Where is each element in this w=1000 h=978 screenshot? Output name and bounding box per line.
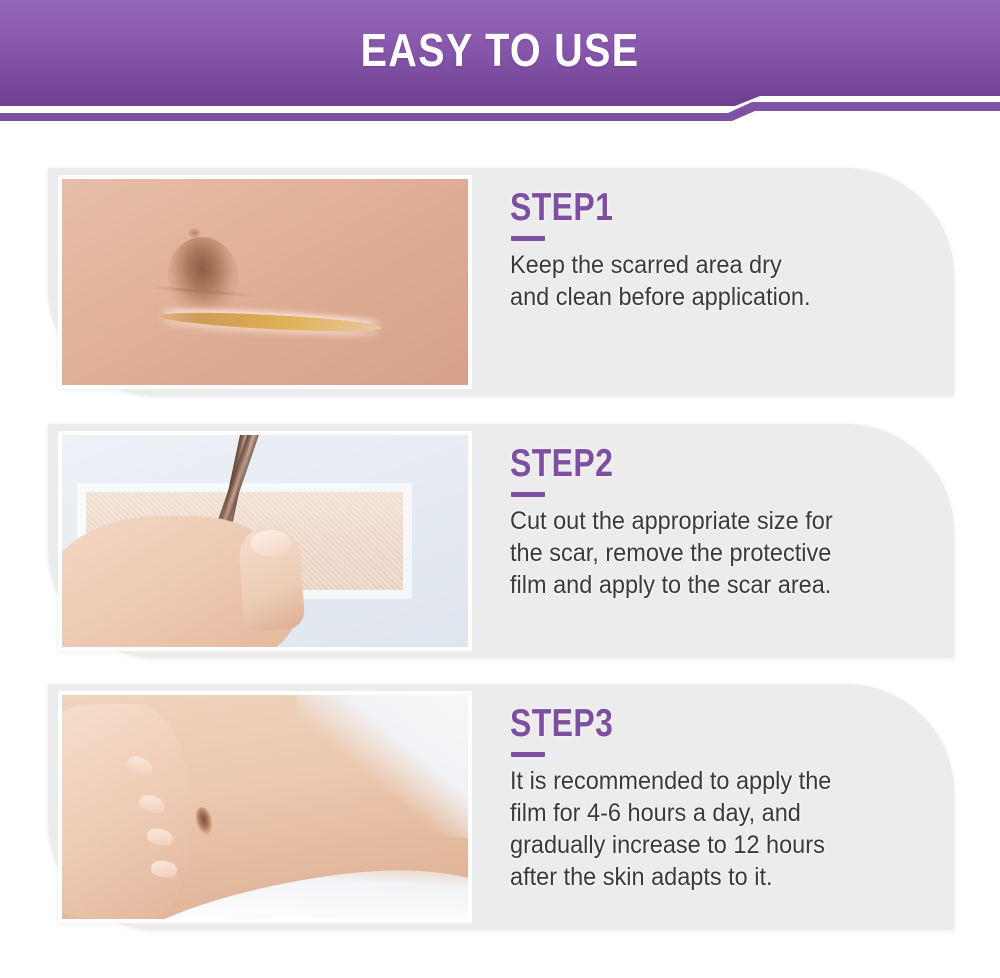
step-1-photo-frame <box>58 175 472 389</box>
step-1-description: Keep the scarred area dry and clean befo… <box>510 249 894 313</box>
step-2-title: STEP2 <box>510 444 845 483</box>
abdomen-with-hand-image <box>62 695 468 919</box>
step-2-line-1: Cut out the appropriate size for <box>510 505 894 537</box>
step-3-line-1: It is recommended to apply the <box>510 765 894 797</box>
step-3-line-4: after the skin adapts to it. <box>510 861 894 893</box>
cutting-scar-sheet-image <box>62 435 468 647</box>
step-card-1: STEP1 Keep the scarred area dry and clea… <box>48 168 954 396</box>
step-2-description: Cut out the appropriate size for the sca… <box>510 505 894 601</box>
step-card-3: STEP3 It is recommended to apply the fil… <box>48 684 954 930</box>
step-3-title: STEP3 <box>510 704 845 743</box>
navel-shape <box>193 805 215 836</box>
step-3-divider <box>511 752 545 757</box>
step-3-line-2: film for 4-6 hours a day, and <box>510 797 894 829</box>
step-3-line-3: gradually increase to 12 hours <box>510 829 894 861</box>
steps-list: STEP1 Keep the scarred area dry and clea… <box>0 122 1000 978</box>
step-1-title: STEP1 <box>510 188 845 227</box>
hand-shape <box>62 704 192 919</box>
step-2-divider <box>511 492 545 497</box>
skin-crease-shape <box>151 286 256 298</box>
step-1-text-block: STEP1 Keep the scarred area dry and clea… <box>510 188 918 313</box>
step-1-line-1: Keep the scarred area dry <box>510 249 894 281</box>
step-2-photo-frame <box>58 431 472 651</box>
step-1-line-2: and clean before application. <box>510 281 894 313</box>
fingernail-shape <box>251 530 292 555</box>
step-3-description: It is recommended to apply the film for … <box>510 765 894 893</box>
background-shape <box>297 695 468 838</box>
step-card-2: STEP2 Cut out the appropriate size for t… <box>48 424 954 658</box>
step-3-text-block: STEP3 It is recommended to apply the fil… <box>510 704 918 893</box>
step-2-line-3: film and apply to the scar area. <box>510 569 894 601</box>
navel-shape <box>188 228 201 238</box>
step-1-divider <box>511 236 545 241</box>
step-2-text-block: STEP2 Cut out the appropriate size for t… <box>510 444 918 601</box>
step-2-line-2: the scar, remove the protective <box>510 537 894 569</box>
page-title: EASY TO USE <box>70 0 930 100</box>
header-banner: EASY TO USE <box>0 0 1000 122</box>
step-3-photo-frame <box>58 691 472 923</box>
scarred-abdomen-image <box>62 179 468 385</box>
